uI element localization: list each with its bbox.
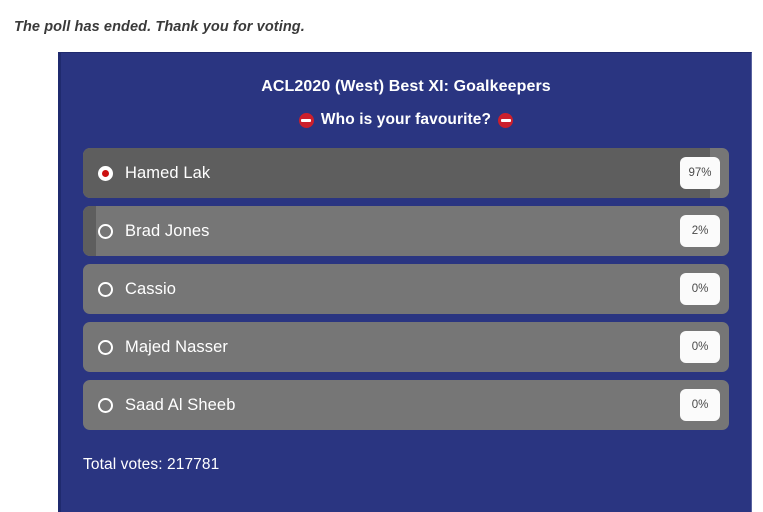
poll-option-fill-bar bbox=[83, 206, 96, 256]
poll-option-row[interactable]: Hamed Lak 97% bbox=[83, 148, 729, 198]
no-entry-icon bbox=[299, 113, 314, 128]
radio-button-icon[interactable] bbox=[98, 166, 113, 181]
poll-option-label: Hamed Lak bbox=[125, 164, 210, 183]
poll-option-percent-badge: 97% bbox=[680, 157, 720, 189]
poll-option-label: Majed Nasser bbox=[125, 338, 228, 357]
poll-title: ACL2020 (West) Best XI: Goalkeepers bbox=[61, 78, 751, 96]
poll-option-label: Saad Al Sheeb bbox=[125, 396, 235, 415]
poll-subtitle-text: Who is your favourite? bbox=[321, 111, 491, 129]
poll-card: ACL2020 (West) Best XI: Goalkeepers Who … bbox=[58, 52, 752, 512]
poll-status-message: The poll has ended. Thank you for voting… bbox=[14, 19, 305, 35]
poll-option-label: Cassio bbox=[125, 280, 176, 299]
poll-option-label: Brad Jones bbox=[125, 222, 209, 241]
poll-option-row[interactable]: Cassio 0% bbox=[83, 264, 729, 314]
radio-button-icon[interactable] bbox=[98, 398, 113, 413]
poll-option-row[interactable]: Brad Jones 2% bbox=[83, 206, 729, 256]
no-entry-icon bbox=[498, 113, 513, 128]
poll-options-list: Hamed Lak 97% Brad Jones 2% Cassio 0% Ma… bbox=[61, 148, 751, 430]
poll-option-percent-badge: 0% bbox=[680, 331, 720, 363]
poll-option-row[interactable]: Majed Nasser 0% bbox=[83, 322, 729, 372]
radio-button-icon[interactable] bbox=[98, 224, 113, 239]
poll-subtitle: Who is your favourite? bbox=[61, 111, 751, 129]
poll-total-votes: Total votes: 217781 bbox=[83, 456, 751, 474]
poll-option-row[interactable]: Saad Al Sheeb 0% bbox=[83, 380, 729, 430]
poll-option-percent-badge: 0% bbox=[680, 273, 720, 305]
poll-option-percent-badge: 2% bbox=[680, 215, 720, 247]
poll-option-percent-badge: 0% bbox=[680, 389, 720, 421]
radio-button-icon[interactable] bbox=[98, 282, 113, 297]
radio-button-icon[interactable] bbox=[98, 340, 113, 355]
